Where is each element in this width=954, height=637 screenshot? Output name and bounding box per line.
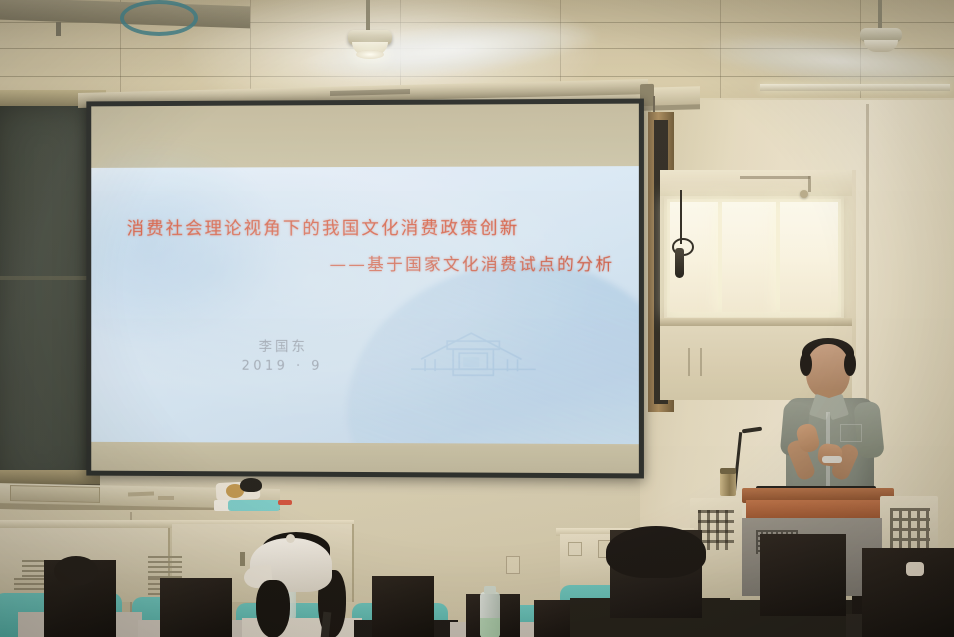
presenter-hair-side	[844, 352, 856, 376]
window-header	[660, 170, 852, 196]
panel-seam	[700, 348, 702, 376]
projection-screen-surface: 消费社会理论视角下的我国文化消费政策创新 ——基于国家文化消费试点的分析 李国东…	[91, 104, 639, 474]
wall-conduit	[808, 176, 811, 192]
window-pane	[722, 202, 776, 312]
water-bottle-cap	[484, 586, 496, 594]
desk-item-teal-folder	[228, 500, 280, 511]
presenter-hair-side	[800, 352, 812, 376]
ceiling-fan-rod	[366, 0, 370, 34]
chalkboard-chalk-tray	[0, 470, 100, 484]
projection-screen: 消费社会理论视角下的我国文化消费政策创新 ——基于国家文化消费试点的分析 李国东…	[86, 99, 644, 479]
presenter-shirt-pocket	[840, 424, 862, 442]
window-sill	[660, 318, 852, 326]
microphone-cable	[680, 190, 682, 244]
chalkboard-seam	[0, 276, 96, 280]
slide-background-shape	[91, 137, 279, 347]
chalkboard	[0, 100, 100, 498]
window-pane	[780, 202, 838, 312]
slide-author: 李国东	[91, 335, 639, 356]
thermos-cap	[720, 468, 736, 474]
desk-item-small	[158, 496, 174, 500]
presenter-wristwatch	[822, 456, 842, 463]
ceiling-pipe-ring	[120, 0, 198, 36]
wall-fixture	[800, 190, 808, 198]
podium-vent-grille	[890, 508, 930, 550]
slide-subtitle: ——基于国家文化消费试点的分析	[91, 251, 639, 275]
panel-seam	[688, 348, 690, 376]
fluorescent-tube-light	[760, 84, 950, 91]
cabinet-latch[interactable]	[240, 552, 245, 566]
wall-socket	[568, 542, 582, 556]
wall-socket	[506, 556, 520, 574]
presentation-slide: 消费社会理论视角下的我国文化消费政策创新 ——基于国家文化消费试点的分析 李国东…	[91, 166, 639, 444]
audience-member-head	[372, 576, 434, 637]
audience-ponytail	[256, 580, 290, 637]
classroom-photo-scene: 消费社会理论视角下的我国文化消费政策创新 ——基于国家文化消费试点的分析 李国东…	[0, 0, 954, 637]
desk-lid[interactable]	[10, 485, 100, 503]
water-bottle-contents	[480, 618, 500, 637]
cap-button	[286, 534, 295, 543]
ceiling-light-icon	[356, 50, 384, 59]
thermos-flask	[720, 472, 736, 496]
wall-conduit	[740, 176, 810, 179]
audience-hair	[606, 526, 706, 578]
desk-item-dark-object	[240, 478, 262, 492]
screen-blank-bottom-band	[91, 442, 639, 474]
microphone-icon	[675, 248, 684, 278]
slide-title: 消费社会理论视角下的我国文化消费政策创新	[91, 214, 639, 240]
audience-member-head	[160, 578, 232, 637]
desk-item-pen	[278, 500, 292, 505]
hair-clip	[906, 562, 924, 576]
slide-date: 2019 · 9	[91, 358, 639, 374]
ceiling-hook	[56, 22, 61, 36]
audience-hair-bun	[54, 556, 98, 586]
audience-member-head	[760, 534, 846, 616]
